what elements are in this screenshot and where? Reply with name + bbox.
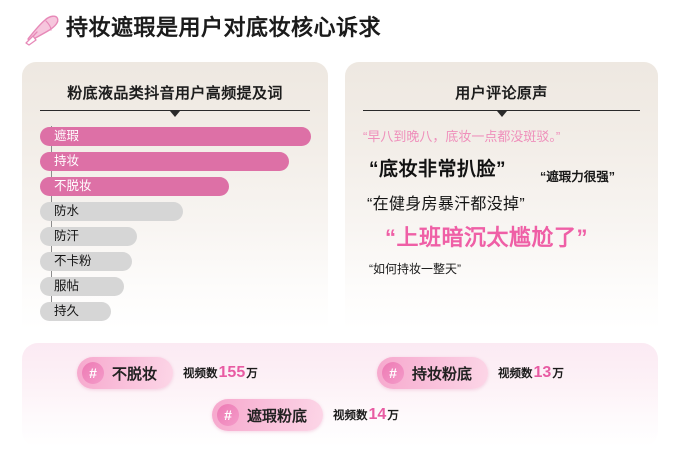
chart-bar-row: 不脱妆	[40, 174, 314, 199]
hashtag-pill[interactable]: # 遮瑕粉底	[212, 399, 323, 431]
video-count-suffix: 万	[552, 368, 564, 380]
chart-bar-label: 持久	[54, 302, 79, 321]
chart-bar-row: 持久	[40, 299, 314, 324]
quote-cloud: “早八到晚八，底妆一点都没斑驳。” “底妆非常扒脸” “遮瑕力很强” “在健身房…	[355, 124, 648, 324]
video-count: 视频数13万	[498, 364, 564, 382]
chart-bar-row: 服帖	[40, 274, 314, 299]
chart-bar	[40, 277, 124, 296]
chart-bar-label: 服帖	[54, 277, 79, 296]
hashtag-label: 遮瑕粉底	[247, 405, 307, 426]
user-quote: “在健身房暴汗都没掉”	[367, 190, 525, 214]
hashtag-panel: # 不脱妆 视频数155万 # 持妆粉底 视频数13万 # 遮瑕粉底 视频数14…	[22, 343, 658, 447]
video-count: 视频数155万	[183, 364, 258, 382]
chevron-down-icon	[170, 111, 180, 117]
chart-bar-row: 遮瑕	[40, 124, 314, 149]
keyword-bar-chart: 遮瑕 持妆 不脱妆 防水 防汗 不卡粉	[40, 124, 314, 322]
chart-bar-label: 防汗	[54, 227, 79, 246]
video-count-suffix: 万	[246, 368, 258, 380]
keyword-frequency-panel: 粉底液品类抖音用户高频提及词 遮瑕 持妆 不脱妆 防水	[22, 62, 328, 330]
hash-icon: #	[382, 362, 404, 384]
left-panel-title: 粉底液品类抖音用户高频提及词	[22, 82, 328, 103]
infographic-root: 持妆遮瑕是用户对底妆核心诉求 粉底液品类抖音用户高频提及词 遮瑕 持妆 不脱妆 …	[0, 0, 699, 461]
video-count-number: 14	[368, 406, 388, 423]
hashtag-label: 持妆粉底	[412, 363, 472, 384]
chart-bar-label: 不卡粉	[54, 252, 92, 271]
user-quote: “早八到晚八，底妆一点都没斑驳。”	[363, 126, 560, 145]
video-count-prefix: 视频数	[498, 368, 533, 380]
page-header: 持妆遮瑕是用户对底妆核心诉求	[0, 0, 699, 56]
video-count: 视频数14万	[333, 406, 399, 424]
user-comments-panel: 用户评论原声 “早八到晚八，底妆一点都没斑驳。” “底妆非常扒脸” “遮瑕力很强…	[345, 62, 658, 330]
hashtag-group: # 遮瑕粉底 视频数14万	[212, 399, 399, 431]
user-quote: “如何持妆一整天”	[369, 260, 461, 277]
user-quote: “遮瑕力很强”	[540, 166, 615, 185]
chart-bar-row: 不卡粉	[40, 249, 314, 274]
video-count-prefix: 视频数	[183, 368, 218, 380]
video-count-number: 13	[533, 364, 553, 381]
chart-bar-row: 防汗	[40, 224, 314, 249]
chart-bar-row: 持妆	[40, 149, 314, 174]
chart-bar	[40, 127, 311, 146]
hashtag-pill[interactable]: # 不脱妆	[77, 357, 173, 389]
page-title: 持妆遮瑕是用户对底妆核心诉求	[66, 12, 381, 44]
hashtag-group: # 持妆粉底 视频数13万	[377, 357, 564, 389]
hash-icon: #	[217, 404, 239, 426]
chart-bar-label: 持妆	[54, 152, 79, 171]
user-quote: “上班暗沉太尴尬了”	[385, 220, 588, 252]
chevron-down-icon	[497, 111, 507, 117]
chart-bar-label: 遮瑕	[54, 127, 79, 146]
chart-bar-row: 防水	[40, 199, 314, 224]
hashtag-label: 不脱妆	[112, 363, 157, 384]
chart-bar-label: 不脱妆	[54, 177, 92, 196]
hash-icon: #	[82, 362, 104, 384]
chart-bar-label: 防水	[54, 202, 79, 221]
right-panel-title: 用户评论原声	[345, 82, 658, 103]
hashtag-group: # 不脱妆 视频数155万	[77, 357, 258, 389]
video-count-prefix: 视频数	[333, 410, 368, 422]
video-count-number: 155	[218, 364, 247, 381]
hashtag-pill[interactable]: # 持妆粉底	[377, 357, 488, 389]
makeup-brush-icon	[22, 12, 62, 46]
user-quote: “底妆非常扒脸”	[369, 154, 506, 181]
video-count-suffix: 万	[387, 410, 399, 422]
